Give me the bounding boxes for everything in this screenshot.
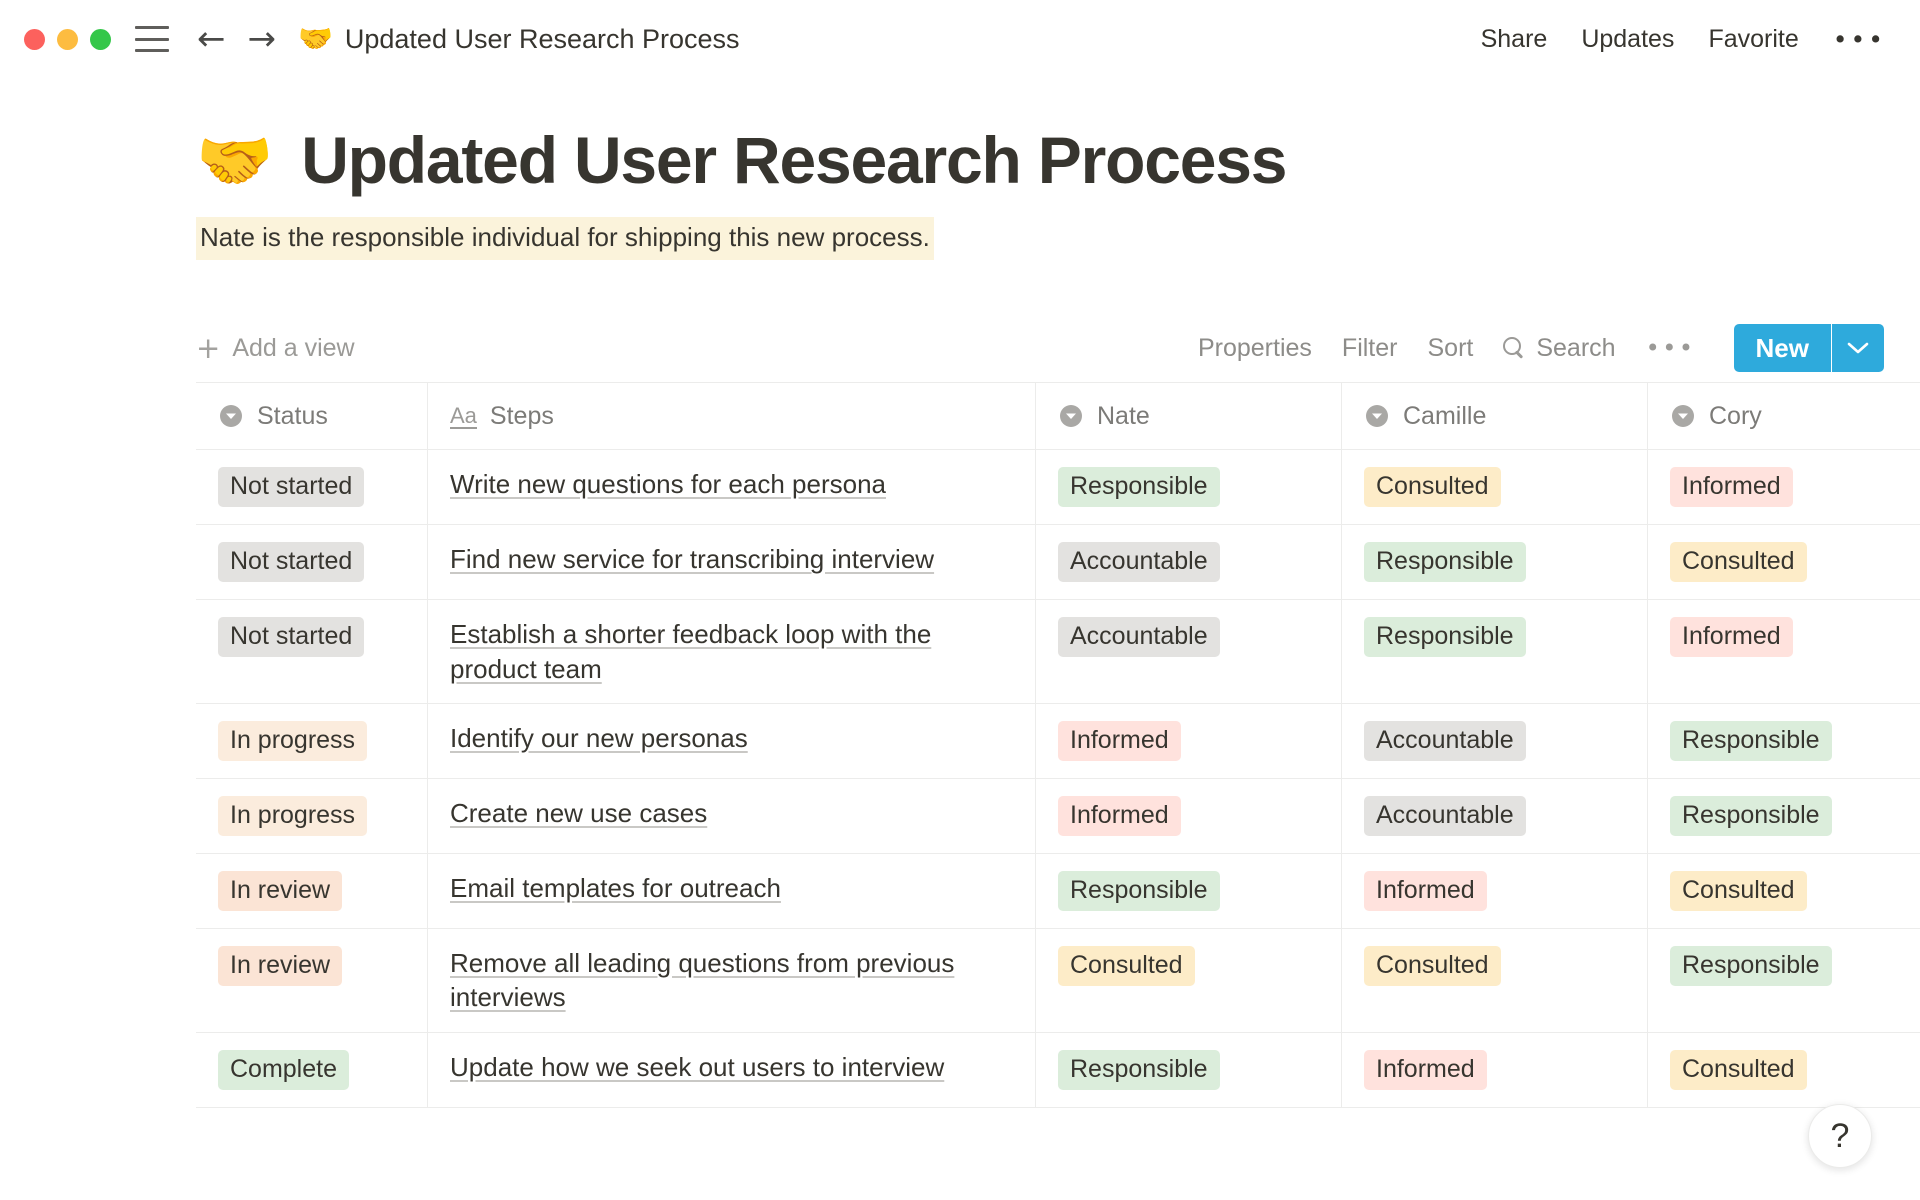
zoom-window-button[interactable] xyxy=(90,29,111,50)
cell-status[interactable]: In review xyxy=(196,929,428,1032)
select-icon xyxy=(1058,403,1084,429)
tag-consulted: Consulted xyxy=(1670,871,1807,911)
page-inner: 🤝 Updated User Research Process Nate is … xyxy=(0,126,1920,1108)
cell-steps[interactable]: Email templates for outreach xyxy=(428,854,1036,928)
cell-camille[interactable]: Responsible xyxy=(1342,525,1648,599)
tag-accountable: Accountable xyxy=(1058,617,1220,657)
cell-nate[interactable]: Informed xyxy=(1036,779,1342,853)
cell-steps[interactable]: Update how we seek out users to intervie… xyxy=(428,1033,1036,1107)
favorite-button[interactable]: Favorite xyxy=(1708,25,1798,54)
search-label: Search xyxy=(1536,334,1615,363)
cell-status[interactable]: In progress xyxy=(196,779,428,853)
tag-responsible: Responsible xyxy=(1364,617,1526,657)
cell-status[interactable]: Not started xyxy=(196,450,428,524)
step-title-link[interactable]: Update how we seek out users to intervie… xyxy=(450,1050,944,1084)
cell-cory[interactable]: Informed xyxy=(1648,450,1920,524)
tag-in-review: In review xyxy=(218,946,342,986)
page-title-text[interactable]: Updated User Research Process xyxy=(301,126,1286,195)
cell-cory[interactable]: Responsible xyxy=(1648,779,1920,853)
cell-camille[interactable]: Informed xyxy=(1342,1033,1648,1107)
table-row[interactable]: CompleteUpdate how we seek out users to … xyxy=(196,1033,1920,1108)
cell-nate[interactable]: Consulted xyxy=(1036,929,1342,1032)
step-title-link[interactable]: Email templates for outreach xyxy=(450,871,781,905)
cell-cory[interactable]: Informed xyxy=(1648,600,1920,703)
sidebar-toggle-icon[interactable] xyxy=(135,26,169,52)
tag-not-started: Not started xyxy=(218,617,364,657)
new-dropdown-button[interactable] xyxy=(1832,324,1884,372)
tag-informed: Informed xyxy=(1670,467,1793,507)
updates-button[interactable]: Updates xyxy=(1581,25,1674,54)
cell-cory[interactable]: Responsible xyxy=(1648,929,1920,1032)
table-row[interactable]: In progressCreate new use casesInformedA… xyxy=(196,779,1920,854)
tag-responsible: Responsible xyxy=(1670,796,1832,836)
cell-steps[interactable]: Identify our new personas xyxy=(428,704,1036,778)
step-title-link[interactable]: Remove all leading questions from previo… xyxy=(450,946,1015,1015)
cell-camille[interactable]: Consulted xyxy=(1342,929,1648,1032)
column-header-steps-label: Steps xyxy=(490,402,554,431)
database-table: Status Aa Steps Nate xyxy=(196,382,1920,1107)
tag-accountable: Accountable xyxy=(1364,721,1526,761)
search-icon xyxy=(1503,337,1525,359)
handshake-icon: 🤝 xyxy=(298,25,333,53)
cell-status[interactable]: In progress xyxy=(196,704,428,778)
view-more-options-icon[interactable]: ••• xyxy=(1646,336,1696,360)
cell-nate[interactable]: Responsible xyxy=(1036,1033,1342,1107)
tag-responsible: Responsible xyxy=(1670,721,1832,761)
page-title: 🤝 Updated User Research Process xyxy=(196,126,1920,195)
close-window-button[interactable] xyxy=(24,29,45,50)
chevron-down-icon xyxy=(1847,341,1869,355)
cell-steps[interactable]: Write new questions for each persona xyxy=(428,450,1036,524)
titlebar-actions: Share Updates Favorite ••• xyxy=(1481,25,1886,54)
sort-button[interactable]: Sort xyxy=(1427,334,1473,363)
forward-arrow-icon[interactable]: → xyxy=(248,22,277,56)
column-header-nate[interactable]: Nate xyxy=(1036,383,1342,449)
view-toolbar: + Add a view Properties Filter Sort Sear… xyxy=(196,322,1920,374)
table-row[interactable]: Not startedFind new service for transcri… xyxy=(196,525,1920,600)
tag-responsible: Responsible xyxy=(1364,542,1526,582)
select-icon xyxy=(1670,403,1696,429)
table-row[interactable]: Not startedWrite new questions for each … xyxy=(196,450,1920,525)
cell-camille[interactable]: Accountable xyxy=(1342,704,1648,778)
select-icon xyxy=(1364,403,1390,429)
help-button[interactable]: ? xyxy=(1808,1104,1872,1168)
tag-responsible: Responsible xyxy=(1058,1050,1220,1090)
tag-responsible: Responsible xyxy=(1670,946,1832,986)
plus-icon: + xyxy=(196,334,220,363)
select-icon xyxy=(218,403,244,429)
column-header-status-label: Status xyxy=(257,402,328,431)
cell-nate[interactable]: Responsible xyxy=(1036,854,1342,928)
cell-cory[interactable]: Consulted xyxy=(1648,525,1920,599)
add-view-button[interactable]: + Add a view xyxy=(196,334,355,363)
table-row[interactable]: In reviewEmail templates for outreachRes… xyxy=(196,854,1920,929)
tag-responsible: Responsible xyxy=(1058,467,1220,507)
tag-in-review: In review xyxy=(218,871,342,911)
cell-nate[interactable]: Responsible xyxy=(1036,450,1342,524)
tag-informed: Informed xyxy=(1670,617,1793,657)
tag-not-started: Not started xyxy=(218,467,364,507)
cell-nate[interactable]: Informed xyxy=(1036,704,1342,778)
cell-status[interactable]: Not started xyxy=(196,600,428,703)
cell-nate[interactable]: Accountable xyxy=(1036,600,1342,703)
tag-consulted: Consulted xyxy=(1058,946,1195,986)
tag-in-progress: In progress xyxy=(218,721,367,761)
tag-informed: Informed xyxy=(1058,796,1181,836)
table-row[interactable]: Not startedEstablish a shorter feedback … xyxy=(196,600,1920,704)
tag-consulted: Consulted xyxy=(1364,467,1501,507)
table-row[interactable]: In progressIdentify our new personasInfo… xyxy=(196,704,1920,779)
minimize-window-button[interactable] xyxy=(57,29,78,50)
cell-cory[interactable]: Responsible xyxy=(1648,704,1920,778)
table-body: Not startedWrite new questions for each … xyxy=(196,450,1920,1107)
cell-status[interactable]: Not started xyxy=(196,525,428,599)
tag-complete: Complete xyxy=(218,1050,349,1090)
step-title-link[interactable]: Write new questions for each persona xyxy=(450,467,886,501)
column-header-cory[interactable]: Cory xyxy=(1648,383,1920,449)
cell-camille[interactable]: Informed xyxy=(1342,854,1648,928)
search-button[interactable]: Search xyxy=(1503,334,1615,363)
cell-steps[interactable]: Find new service for transcribing interv… xyxy=(428,525,1036,599)
more-options-icon[interactable]: ••• xyxy=(1833,27,1886,52)
table-row[interactable]: In reviewRemove all leading questions fr… xyxy=(196,929,1920,1033)
tag-consulted: Consulted xyxy=(1670,1050,1807,1090)
tag-accountable: Accountable xyxy=(1058,542,1220,582)
tag-not-started: Not started xyxy=(218,542,364,582)
page-subtitle: Nate is the responsible individual for s… xyxy=(196,217,934,260)
tag-accountable: Accountable xyxy=(1364,796,1526,836)
table-header-row: Status Aa Steps Nate xyxy=(196,383,1920,450)
tag-responsible: Responsible xyxy=(1058,871,1220,911)
window-titlebar: ← → 🤝 Updated User Research Process Shar… xyxy=(0,0,1920,78)
tag-informed: Informed xyxy=(1364,871,1487,911)
new-button-group: New xyxy=(1734,324,1884,372)
cell-nate[interactable]: Accountable xyxy=(1036,525,1342,599)
filter-button[interactable]: Filter xyxy=(1342,334,1398,363)
cell-status[interactable]: Complete xyxy=(196,1033,428,1107)
cell-steps[interactable]: Create new use cases xyxy=(428,779,1036,853)
cell-camille[interactable]: Consulted xyxy=(1342,450,1648,524)
tag-in-progress: In progress xyxy=(218,796,367,836)
add-view-label: Add a view xyxy=(232,334,354,363)
breadcrumb-title[interactable]: Updated User Research Process xyxy=(345,24,740,55)
new-button[interactable]: New xyxy=(1734,324,1831,372)
column-header-steps[interactable]: Aa Steps xyxy=(428,383,1036,449)
share-button[interactable]: Share xyxy=(1481,25,1548,54)
column-header-camille[interactable]: Camille xyxy=(1342,383,1648,449)
cell-cory[interactable]: Consulted xyxy=(1648,1033,1920,1107)
column-header-status[interactable]: Status xyxy=(196,383,428,449)
cell-cory[interactable]: Consulted xyxy=(1648,854,1920,928)
view-toolbar-actions: Properties Filter Sort Search ••• New xyxy=(1198,324,1884,372)
text-aa-icon: Aa xyxy=(450,404,477,429)
column-header-nate-label: Nate xyxy=(1097,402,1150,431)
handshake-icon[interactable]: 🤝 xyxy=(196,130,273,192)
cell-steps[interactable]: Remove all leading questions from previo… xyxy=(428,929,1036,1032)
step-title-link[interactable]: Identify our new personas xyxy=(450,721,748,755)
tag-informed: Informed xyxy=(1058,721,1181,761)
cell-camille[interactable]: Responsible xyxy=(1342,600,1648,703)
cell-camille[interactable]: Accountable xyxy=(1342,779,1648,853)
cell-steps[interactable]: Establish a shorter feedback loop with t… xyxy=(428,600,1036,703)
tag-consulted: Consulted xyxy=(1670,542,1807,582)
page-content: 🤝 Updated User Research Process Nate is … xyxy=(0,78,1920,1108)
step-title-link[interactable]: Create new use cases xyxy=(450,796,707,830)
breadcrumb[interactable]: 🤝 Updated User Research Process xyxy=(298,24,740,55)
column-header-cory-label: Cory xyxy=(1709,402,1762,431)
tag-consulted: Consulted xyxy=(1364,946,1501,986)
window-traffic-lights xyxy=(24,29,111,50)
step-title-link[interactable]: Establish a shorter feedback loop with t… xyxy=(450,617,1015,686)
tag-informed: Informed xyxy=(1364,1050,1487,1090)
back-arrow-icon[interactable]: ← xyxy=(197,22,226,56)
column-header-camille-label: Camille xyxy=(1403,402,1486,431)
cell-status[interactable]: In review xyxy=(196,854,428,928)
properties-button[interactable]: Properties xyxy=(1198,334,1312,363)
step-title-link[interactable]: Find new service for transcribing interv… xyxy=(450,542,934,576)
